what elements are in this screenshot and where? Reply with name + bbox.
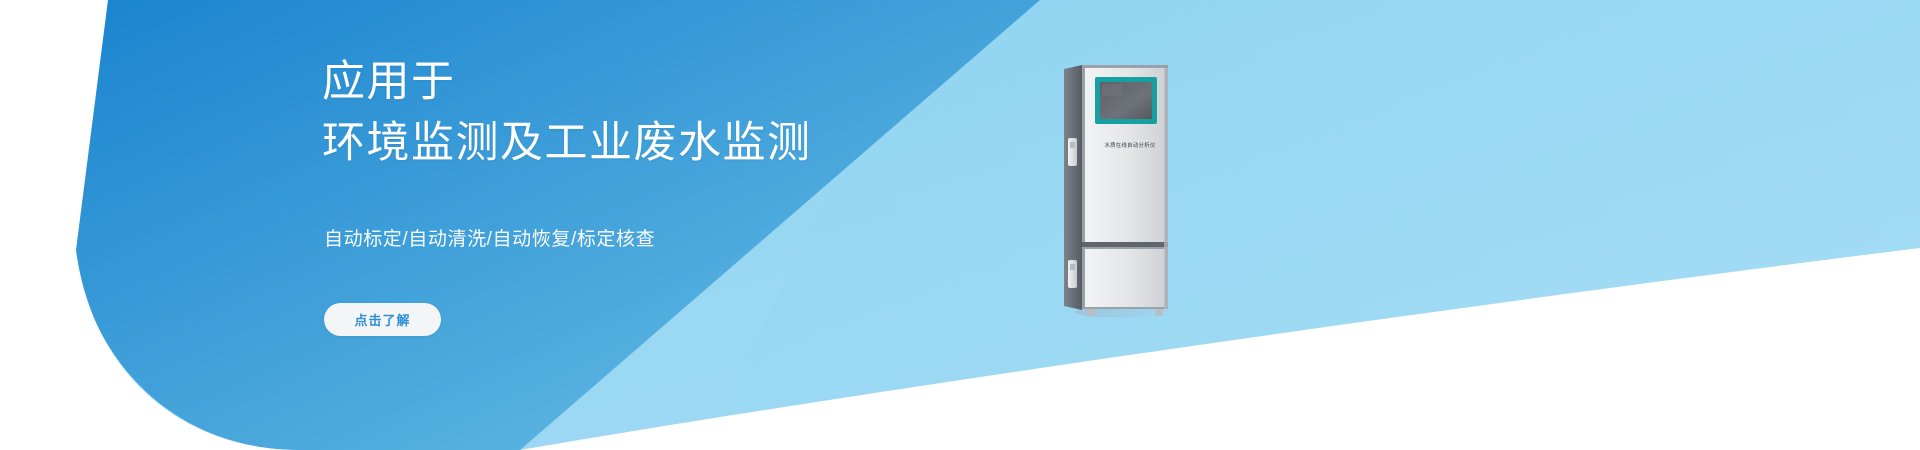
headline-line-2: 环境监测及工业废水监测 (322, 113, 812, 174)
device-divider (1082, 242, 1168, 247)
banner-subtitle: 自动标定/自动清洗/自动恢复/标定核查 (324, 224, 655, 251)
device-lower-handle-detail (1070, 264, 1075, 270)
learn-more-button[interactable]: 点击了解 (324, 303, 441, 336)
device-foot-left (1087, 309, 1095, 316)
water-analyzer-device: 水质在线自动分析仪 (1063, 64, 1171, 317)
device-upper-handle-detail (1070, 142, 1075, 148)
device-lower-door (1085, 249, 1165, 307)
headline-line-1: 应用于 (322, 52, 812, 113)
water-analyzer-illustration (1063, 64, 1171, 317)
banner-content: 应用于 环境监测及工业废水监测 自动标定/自动清洗/自动恢复/标定核查 点击了解 (322, 0, 1082, 450)
device-foot-right (1155, 309, 1163, 316)
page-title: 应用于 环境监测及工业废水监测 (322, 52, 812, 174)
device-screen-glare (1102, 84, 1122, 96)
device-right-edge (1164, 68, 1168, 309)
hero-banner: 应用于 环境监测及工业废水监测 自动标定/自动清洗/自动恢复/标定核查 点击了解 (0, 0, 1920, 450)
